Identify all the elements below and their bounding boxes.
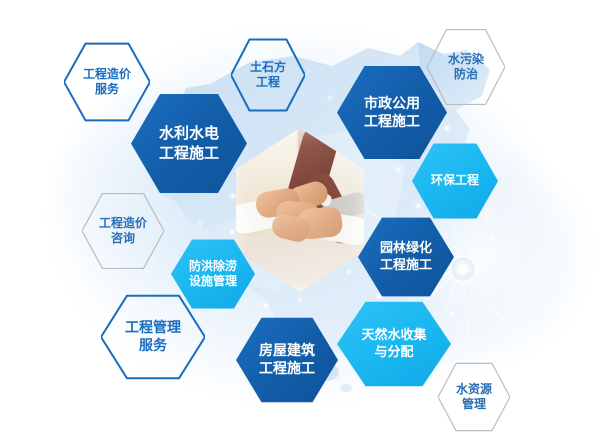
hexagon-label-line: 工程施工 (259, 360, 315, 378)
hexagon-label-line: 工程造价 (83, 67, 131, 82)
hexagon-label-line: 工程造价 (99, 216, 147, 231)
hexagon-label-line: 与分配 (374, 344, 413, 361)
particle-dot (351, 391, 354, 394)
hexagon-label-line: 环保工程 (431, 173, 479, 188)
network-node-ring (450, 256, 476, 282)
hexagon-label-group: 环保工程 (431, 173, 479, 188)
hexagon-gongcheng-zaojia-fuwu[interactable]: 工程造价服务 (64, 42, 150, 122)
hexagon-label-group: 水利水电工程施工 (159, 124, 219, 162)
particle-dot (416, 204, 419, 207)
particle-dot (490, 236, 494, 240)
hexagon-gongcheng-guanli-fuwu[interactable]: 工程管理服务 (101, 294, 205, 380)
hexagon-label-line: 园林绿化 (380, 240, 432, 257)
hexagon-label-group: 工程管理服务 (125, 319, 181, 355)
hexagon-tushifang-gongcheng[interactable]: 土石方工程 (231, 38, 305, 112)
particle-dot (198, 222, 202, 226)
hexagon-label-line: 工程施工 (364, 113, 420, 131)
hexagon-label-line: 土石方 (250, 60, 286, 75)
hexagon-label-line: 水资源 (456, 382, 492, 397)
hexagon-label-group: 防洪除涝设施管理 (189, 259, 237, 290)
hexagon-label-line: 咨询 (111, 231, 135, 246)
hexagon-label-group: 市政公用工程施工 (364, 95, 420, 131)
hexagon-shuiziyuan-guanli[interactable]: 水资源管理 (438, 362, 510, 432)
hexagon-label-group: 房屋建筑工程施工 (259, 342, 315, 378)
hexagon-label-line: 服务 (95, 82, 119, 97)
particle-dot (298, 298, 302, 302)
hexagon-label-line: 工程管理 (125, 319, 181, 337)
hexagon-label-group: 园林绿化工程施工 (380, 240, 432, 273)
particle-dot (445, 126, 449, 130)
hexagon-label-line: 天然水收集 (361, 327, 426, 344)
hexagon-label-line: 工程 (256, 75, 280, 90)
hexagon-shuiwuran-fangzhi[interactable]: 水污染防治 (427, 28, 505, 106)
hexagon-label-line: 市政公用 (364, 95, 420, 113)
particle-dot (231, 194, 234, 197)
hexagon-label-line: 水利水电 (159, 124, 219, 143)
particle-dot (450, 312, 454, 316)
hexagon-label-line: 防洪除涝 (189, 259, 237, 274)
hexagon-label-line: 工程施工 (159, 144, 219, 163)
hexagon-label-line: 防治 (454, 67, 478, 82)
hexagon-label-line: 服务 (139, 337, 167, 355)
hexagon-label-group: 工程造价服务 (83, 67, 131, 98)
hexagon-label-line: 管理 (462, 397, 486, 412)
hexagon-label-group: 土石方工程 (250, 60, 286, 91)
infographic-canvas: 工程造价服务土石方工程水污染防治水利水电工程施工市政公用工程施工环保工程工程造价… (0, 0, 600, 439)
hexagon-label-group: 工程造价咨询 (99, 216, 147, 247)
particle-dot (347, 270, 350, 273)
hexagon-label-line: 工程施工 (380, 257, 432, 274)
hexagon-label-group: 水污染防治 (448, 52, 484, 83)
hexagon-label-group: 天然水收集与分配 (361, 327, 426, 360)
hexagon-label-line: 设施管理 (189, 274, 237, 289)
hexagon-label-line: 房屋建筑 (259, 342, 315, 360)
hexagon-gongcheng-zaojia-zixun[interactable]: 工程造价咨询 (82, 192, 164, 270)
hexagon-label-group: 水资源管理 (456, 382, 492, 413)
hexagon-label-line: 水污染 (448, 52, 484, 67)
particle-dot (256, 400, 259, 403)
particle-dot (264, 304, 267, 307)
